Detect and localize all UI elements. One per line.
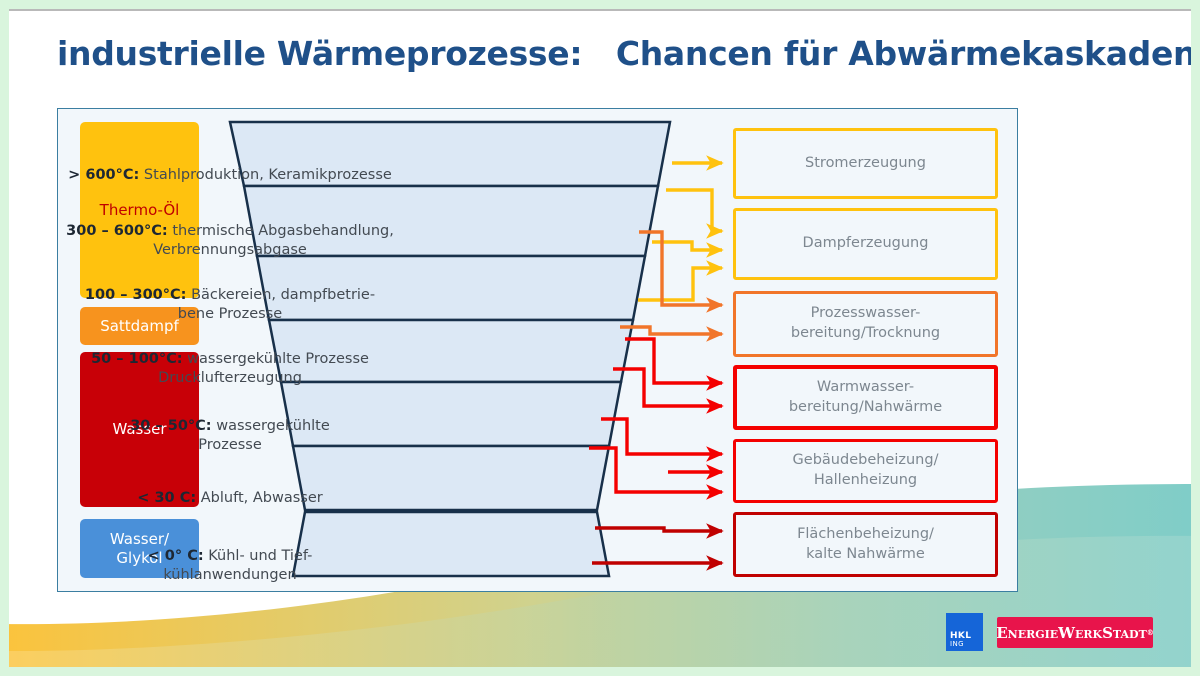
funnel-row-label-6: < 30 C: Abluft, Abwasser [0,470,460,508]
funnel-row-desc: Bäckereien, dampfbetrie- bene Prozesse [178,287,375,322]
outcome-box-warmwasser[interactable]: Warmwasser- bereitung/Nahwärme [733,365,998,430]
funnel-row-label-3: 100 – 300°C: Bäckereien, dampfbetrie- be… [0,267,460,324]
funnel-row-range: 50 – 100°C: [91,351,182,367]
funnel-row-desc: Stahlproduktion, Keramikprozesse [139,167,392,183]
funnel-row-label-5: 30 – 50°C: wassergekühlte Prozesse [0,398,460,455]
funnel-row-desc: Abluft, Abwasser [196,490,323,506]
outcome-box-gebaeudebeheizung[interactable]: Gebäudebeheizung/ Hallenheizung [733,439,998,503]
outcome-box-flaechenbeheizung[interactable]: Flächenbeheizung/ kalte Nahwärme [733,512,998,577]
logo-hkl: HKL ING [946,613,983,651]
funnel-row-range: > 600°C: [68,167,139,183]
funnel-row-label-2: 300 – 600°C: thermische Abgasbehandlung,… [0,203,460,260]
outcome-box-stromerzeugung[interactable]: Stromerzeugung [733,128,998,199]
funnel-row-range: 30 – 50°C: [130,418,211,434]
funnel-row-label-4: 50 – 100°C: wassergekühlte Prozesse Druc… [0,331,460,388]
funnel-row-range: < 30 C: [137,490,196,506]
logo-ews-mark: ® [1147,628,1154,637]
outcome-label: Dampferzeugung [803,234,929,254]
funnel-row-label-7: < 0° C: Kühl- und Tief- kühlanwendungen [0,528,460,585]
logo-ews-name: EnergieWerkStadt [996,624,1147,642]
funnel-row-range: 100 – 300°C: [85,287,187,303]
outcome-label: Flächenbeheizung/ kalte Nahwärme [797,525,934,564]
outcome-label: Prozesswasser- bereitung/Trocknung [791,304,940,343]
funnel-row-desc: thermische Abgasbehandlung, Verbrennungs… [153,223,394,258]
outcome-label: Stromerzeugung [805,154,926,174]
outcome-label: Gebäudebeheizung/ Hallenheizung [793,451,939,490]
logo-energiewerkstadt: EnergieWerkStadt® [997,617,1153,648]
funnel-row-range: < 0° C: [148,548,204,564]
funnel-row-desc: wassergekühlte Prozesse Drucklufterzeugu… [158,351,369,386]
outcome-box-prozesswasser[interactable]: Prozesswasser- bereitung/Trocknung [733,291,998,357]
funnel-row-label-1: > 600°C: Stahlproduktion, Keramikprozess… [0,147,460,185]
funnel-row-range: 300 – 600°C: [66,223,168,239]
outcome-label: Warmwasser- bereitung/Nahwärme [789,378,942,417]
slide-canvas: industrielle Wärmeprozesse: Chancen für … [0,0,1200,676]
page-title: industrielle Wärmeprozesse: Chancen für … [57,34,1196,73]
slide-frame-top-rule [9,9,1191,11]
outcome-box-dampferzeugung[interactable]: Dampferzeugung [733,208,998,280]
funnel-row-desc: wassergekühlte Prozesse [198,418,330,453]
logo-hkl-line2: ING [950,641,964,648]
